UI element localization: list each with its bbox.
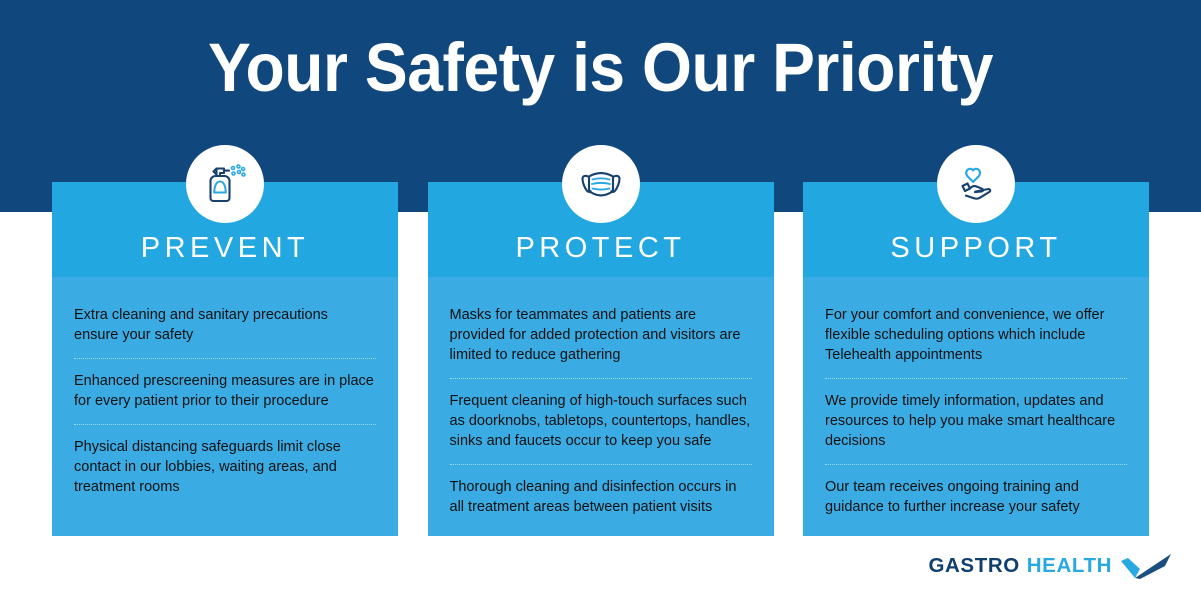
panel-body-protect: Masks for teammates and patients are pro… — [428, 277, 774, 536]
column-title: PREVENT — [141, 234, 309, 263]
list-item: For your comfort and convenience, we off… — [825, 293, 1127, 378]
list-item: Masks for teammates and patients are pro… — [450, 293, 752, 378]
list-item: Our team receives ongoing training and g… — [825, 464, 1127, 530]
spray-bottle-icon — [186, 145, 264, 223]
list-item: Frequent cleaning of high-touch surfaces… — [450, 378, 752, 464]
column-prevent: PREVENT Extra cleaning and sanitary prec… — [52, 182, 398, 536]
panel-body-support: For your comfort and convenience, we off… — [803, 277, 1149, 536]
infographic-poster: Your Safety is Our Priority — [0, 0, 1201, 598]
column-protect: PROTECT Masks for teammates and patients… — [428, 182, 774, 536]
list-item: Enhanced prescreening measures are in pl… — [74, 358, 376, 424]
column-title: PROTECT — [515, 234, 685, 263]
page-title: Your Safety is Our Priority — [42, 32, 1159, 104]
list-item: Thorough cleaning and disinfection occur… — [450, 464, 752, 530]
column-support: SUPPORT For your comfort and convenience… — [803, 182, 1149, 536]
face-mask-icon — [562, 145, 640, 223]
hand-heart-icon — [937, 145, 1015, 223]
gastro-health-logo: GASTRO HEALTH — [928, 552, 1173, 580]
list-item: Physical distancing safeguards limit clo… — [74, 424, 376, 510]
checkmark-swoosh-icon — [1119, 552, 1173, 580]
column-title: SUPPORT — [890, 234, 1061, 263]
logo-secondary-text: HEALTH — [1027, 556, 1112, 577]
list-item: Extra cleaning and sanitary precautions … — [74, 293, 376, 358]
logo-primary-text: GASTRO — [928, 556, 1019, 577]
panel-body-prevent: Extra cleaning and sanitary precautions … — [52, 277, 398, 536]
list-item: We provide timely information, updates a… — [825, 378, 1127, 464]
columns-container: PREVENT Extra cleaning and sanitary prec… — [52, 182, 1149, 536]
